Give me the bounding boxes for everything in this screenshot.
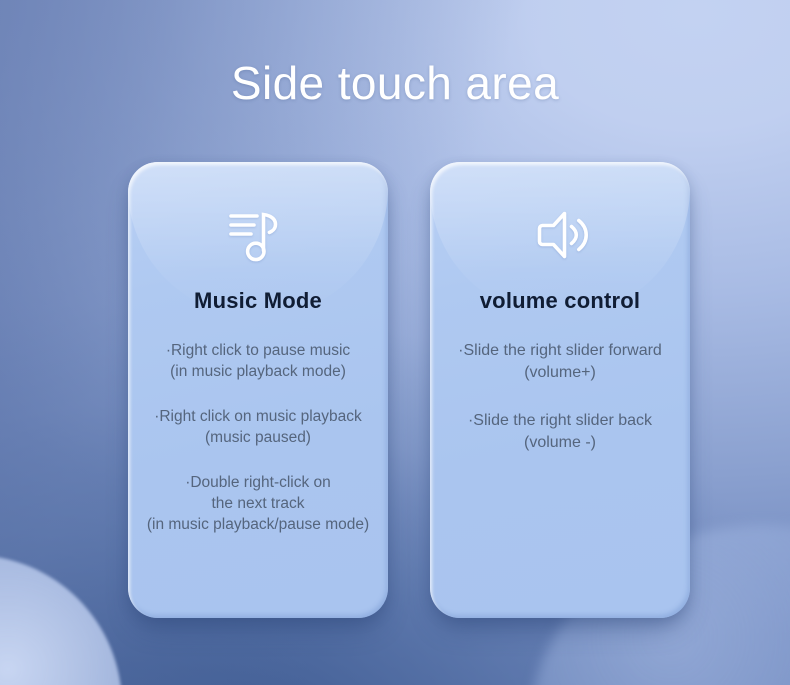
card-body: ·Slide the right slider forward (volume+… — [430, 340, 690, 480]
speaker-volume-icon — [529, 206, 591, 264]
card-body: ·Right click to pause music (in music pl… — [128, 340, 388, 535]
instruction-line: ·Slide the right slider forward — [430, 340, 690, 362]
instruction-line: (music paused) — [128, 427, 388, 448]
card-title: Music Mode — [194, 288, 322, 314]
instruction-line: (in music playback mode) — [128, 361, 388, 382]
instruction-block: ·Right click on music playback (music pa… — [128, 406, 388, 448]
card-row: Music Mode ·Right click to pause music (… — [128, 162, 690, 618]
instruction-line: ·Right click to pause music — [128, 340, 388, 361]
instruction-block: ·Slide the right slider forward (volume+… — [430, 340, 690, 384]
instruction-block: ·Slide the right slider back (volume -) — [430, 410, 690, 454]
instruction-line: (volume+) — [430, 362, 690, 384]
instruction-line: ·Right click on music playback — [128, 406, 388, 427]
instruction-line: (volume -) — [430, 432, 690, 454]
instruction-line: ·Double right-click on — [128, 472, 388, 493]
instruction-line: ·Slide the right slider back — [430, 410, 690, 432]
card-volume-control[interactable]: volume control ·Slide the right slider f… — [430, 162, 690, 618]
instruction-line: the next track — [128, 493, 388, 514]
page-title: Side touch area — [0, 56, 790, 110]
card-title: volume control — [480, 288, 641, 314]
music-note-icon — [227, 206, 289, 264]
instruction-line: (in music playback/pause mode) — [128, 514, 388, 535]
card-music-mode[interactable]: Music Mode ·Right click to pause music (… — [128, 162, 388, 618]
instruction-block: ·Double right-click on the next track (i… — [128, 472, 388, 535]
instruction-block: ·Right click to pause music (in music pl… — [128, 340, 388, 382]
